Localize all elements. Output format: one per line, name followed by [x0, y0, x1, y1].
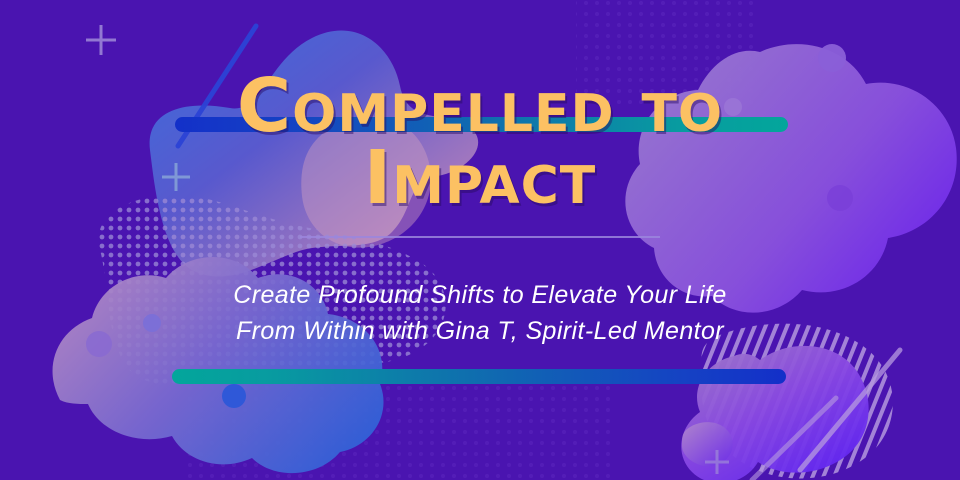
title-line-1: Compelled to — [0, 72, 960, 140]
title-line-2: Impact — [0, 144, 960, 212]
subtitle-line-2: From Within with Gina T, Spirit-Led Ment… — [0, 314, 960, 350]
subtitle: Create Profound Shifts to Elevate Your L… — [0, 278, 960, 349]
banner: Compelled to Impact Create Profound Shif… — [0, 0, 960, 480]
bottom-left-dot-3 — [222, 384, 246, 408]
page-title: Compelled to Impact — [0, 72, 960, 212]
top-right-dot-1 — [818, 44, 846, 72]
subtitle-line-1: Create Profound Shifts to Elevate Your L… — [0, 278, 960, 314]
